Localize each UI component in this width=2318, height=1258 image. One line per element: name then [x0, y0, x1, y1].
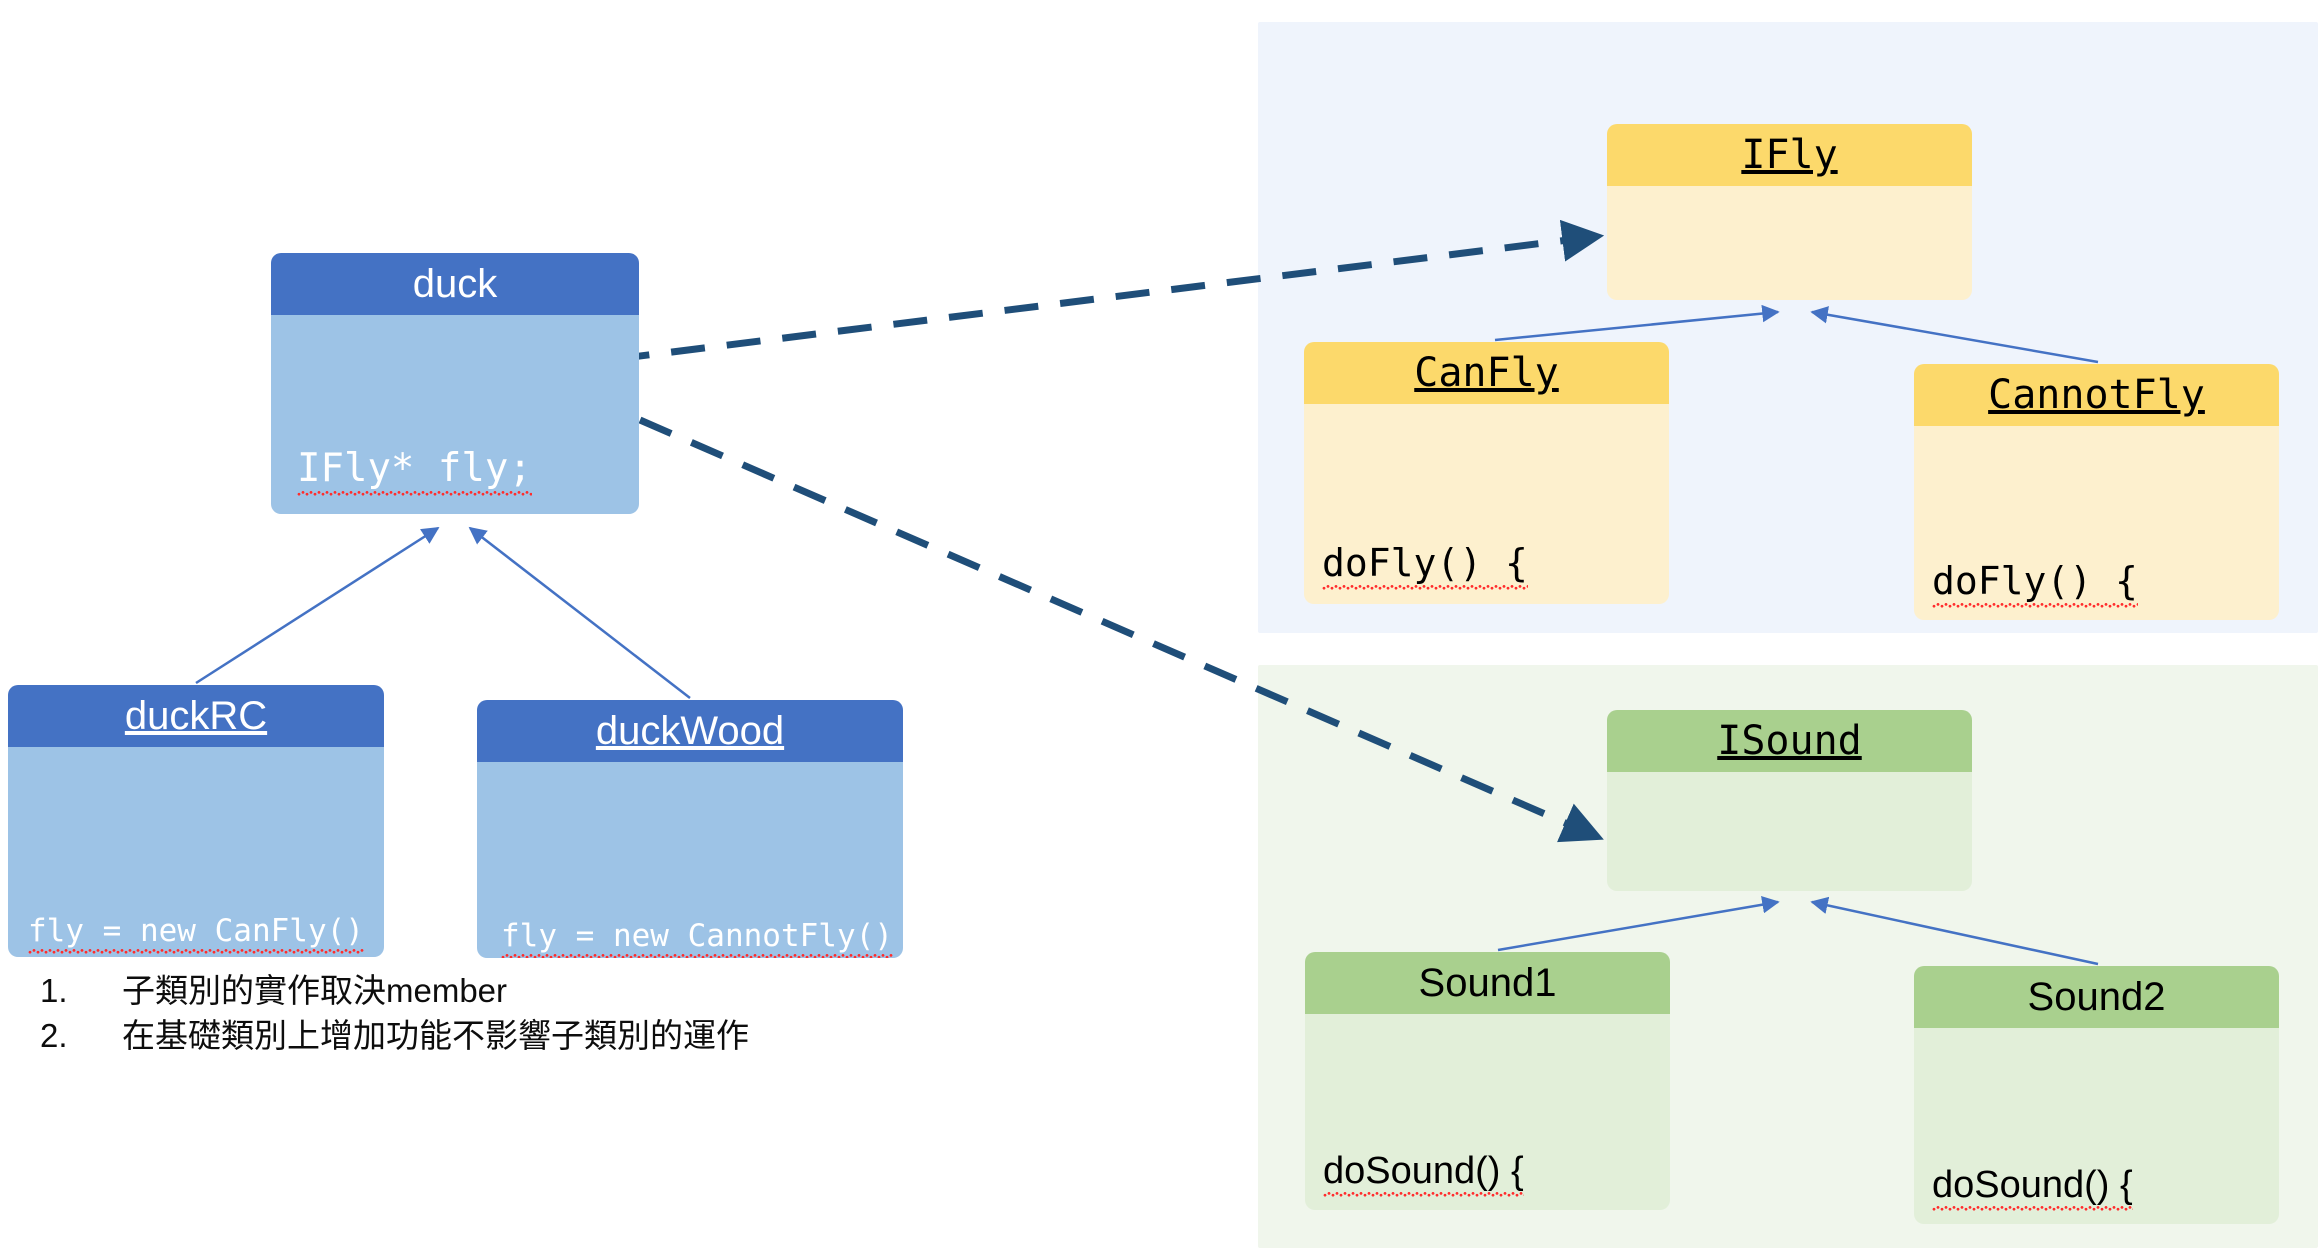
class-box-sound1[interactable]: Sound1 doSound() { “Sound1” }	[1305, 952, 1670, 1210]
class-title-sound1: Sound1	[1305, 952, 1670, 1014]
member-sound2-0: doSound() {	[1932, 1164, 2133, 1211]
member-sound1-0: doSound() {	[1323, 1150, 1524, 1197]
member-duckrc-0: fly = new CanFly()	[28, 913, 364, 954]
class-members-duck: IFly* fly; Isound* sound; …	[271, 315, 639, 514]
class-members-ifly: doFly() …	[1607, 186, 1972, 300]
class-box-ifly[interactable]: IFly doFly() …	[1607, 124, 1972, 300]
note-text: 子類別的實作取決member	[122, 968, 940, 1013]
class-box-sound2[interactable]: Sound2 doSound() { “Sound2” }	[1914, 966, 2279, 1224]
member-canfly-0: doFly() {	[1322, 541, 1528, 590]
member-duckwood-0: fly = new CannotFly()	[501, 918, 893, 958]
link-duckwood-to-duck	[470, 528, 690, 698]
diagram-canvas: duck IFly* fly; Isound* sound; … duckRC …	[0, 0, 2318, 1258]
note-item: 2. 在基礎類別上增加功能不影響子類別的運作	[40, 1013, 940, 1058]
class-box-isound[interactable]: ISound doSound() …	[1607, 710, 1972, 891]
class-members-cannotfly: doFly() { “Cannot fly” }	[1914, 426, 2279, 620]
class-members-duckrc: fly = new CanFly()	[8, 747, 384, 957]
link-duckrc-to-duck	[196, 528, 438, 683]
class-title-canfly: CanFly	[1304, 342, 1669, 404]
notes-list: 1. 子類別的實作取決member 2. 在基礎類別上增加功能不影響子類別的運作	[40, 968, 940, 1058]
class-title-isound: ISound	[1607, 710, 1972, 772]
class-title-cannotfly: CannotFly	[1914, 364, 2279, 426]
note-number: 1.	[40, 968, 122, 1013]
class-title-duckrc: duckRC	[8, 685, 384, 747]
class-box-duck[interactable]: duck IFly* fly; Isound* sound; …	[271, 253, 639, 514]
class-title-sound2: Sound2	[1914, 966, 2279, 1028]
class-members-canfly: doFly() { “Can fly” }	[1304, 404, 1669, 604]
class-members-isound: doSound() …	[1607, 772, 1972, 891]
member-cannotfly-0: doFly() {	[1932, 559, 2138, 608]
class-box-duckwood[interactable]: duckWood fly = new CannotFly()	[477, 700, 903, 958]
class-box-canfly[interactable]: CanFly doFly() { “Can fly” }	[1304, 342, 1669, 604]
note-item: 1. 子類別的實作取決member	[40, 968, 940, 1013]
class-members-sound1: doSound() { “Sound1” }	[1305, 1014, 1670, 1210]
class-members-duckwood: fly = new CannotFly()	[477, 762, 903, 958]
class-box-duckrc[interactable]: duckRC fly = new CanFly()	[8, 685, 384, 957]
class-title-ifly: IFly	[1607, 124, 1972, 186]
class-members-sound2: doSound() { “Sound2” }	[1914, 1028, 2279, 1224]
class-title-duckwood: duckWood	[477, 700, 903, 762]
note-text: 在基礎類別上增加功能不影響子類別的運作	[122, 1013, 940, 1058]
class-box-cannotfly[interactable]: CannotFly doFly() { “Cannot fly” }	[1914, 364, 2279, 620]
note-number: 2.	[40, 1013, 122, 1058]
class-title-duck: duck	[271, 253, 639, 315]
member-duck-0: IFly* fly;	[297, 446, 532, 496]
